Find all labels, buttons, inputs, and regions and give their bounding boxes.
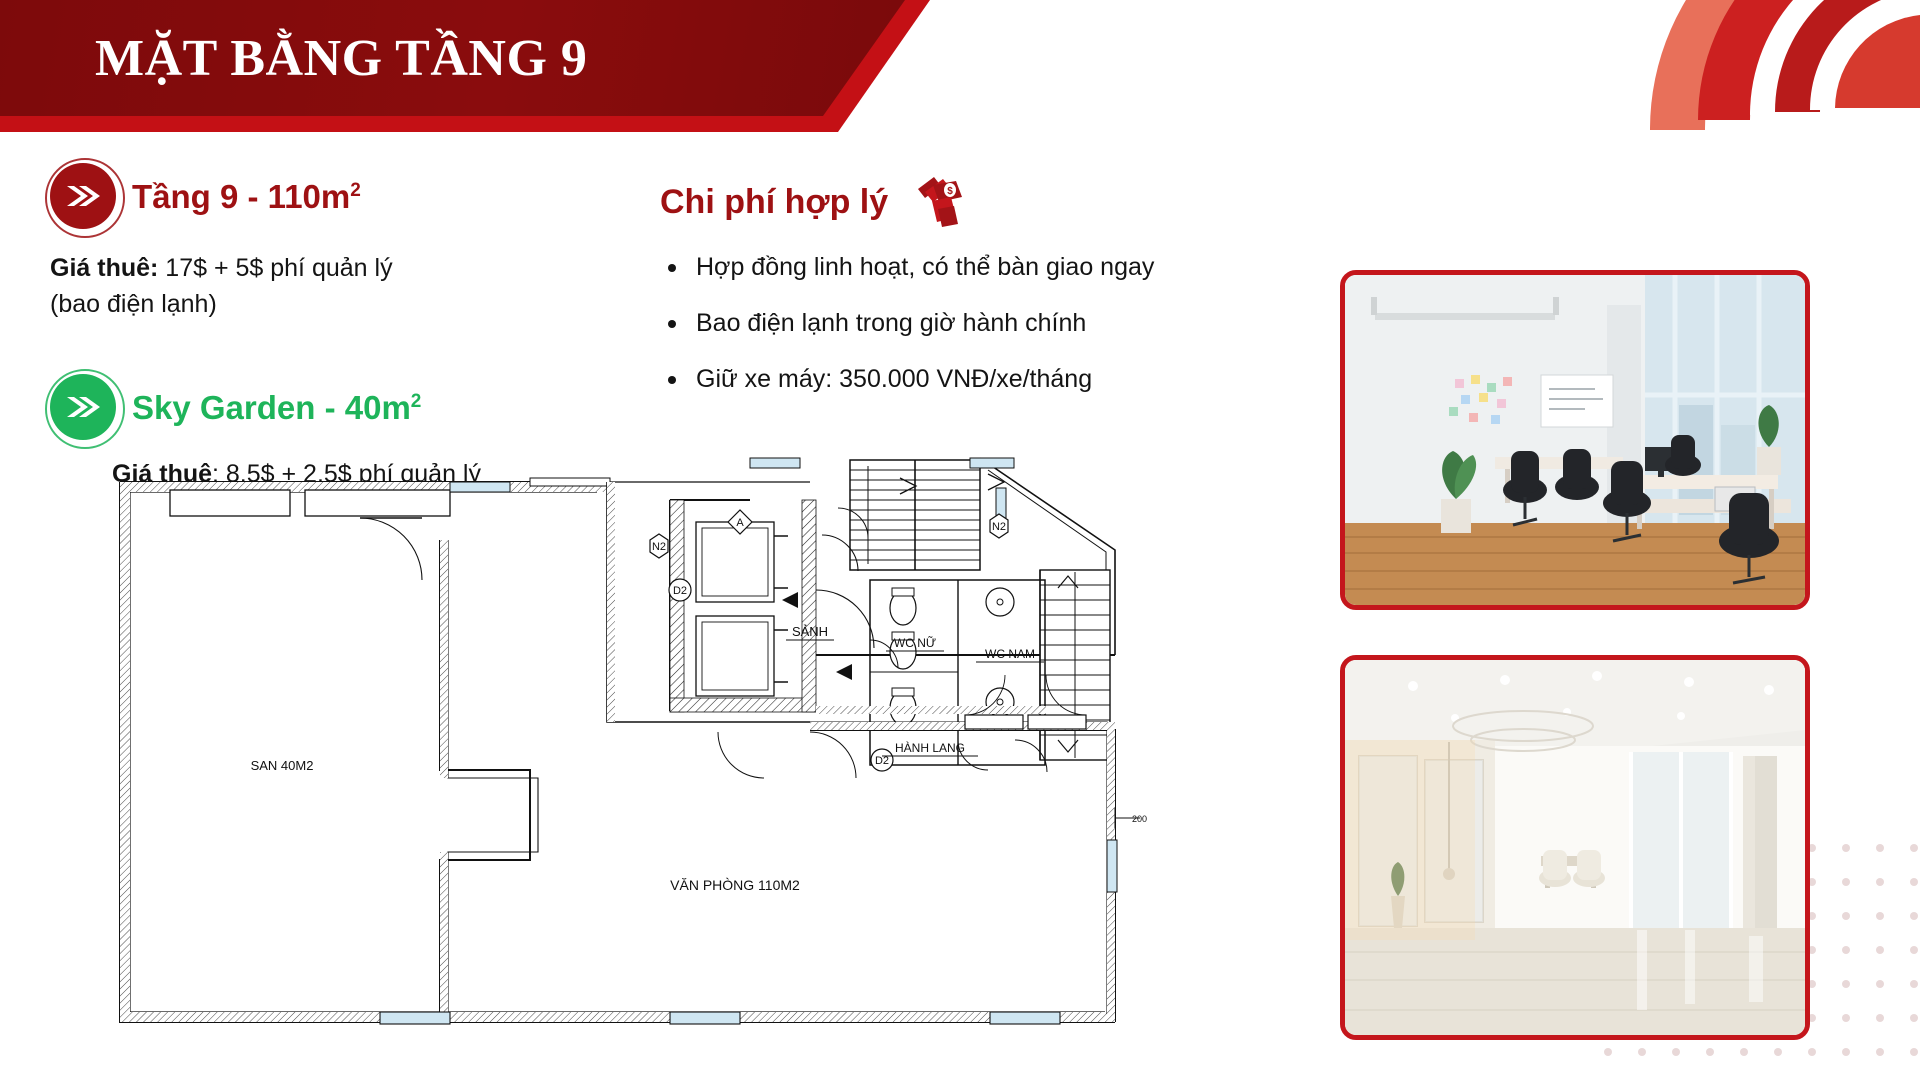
money-banknotes-icon: $ (910, 175, 968, 229)
marker-label-n2-right: N2 (992, 521, 1006, 533)
office-open-workspace-photo (1340, 270, 1810, 610)
sky-garden-title-text: Sky Garden - 40m (132, 389, 411, 426)
list-item: Giữ xe máy: 350.000 VNĐ/xe/tháng (660, 365, 1280, 393)
chevron-glyph (63, 182, 103, 210)
floor-price-value: 17$ + 5$ phí quản lý (165, 254, 392, 282)
list-item: Bao điện lạnh trong giờ hành chính (660, 309, 1280, 337)
marker-label-d2-lower: D2 (875, 755, 889, 767)
floor-price-label: Giá thuê: (50, 254, 158, 282)
slide-root: MẶT BẰNG TẦNG 9 (0, 0, 1920, 1080)
plan-label-corridor: HÀNH LANG (895, 740, 965, 755)
floor-plan-svg: N2 A D2 D2 N2 SAN 40M2 VĂN PHÒNG 110M2 S… (110, 440, 1170, 1050)
cost-section-title: Chi phí hợp lý (660, 183, 888, 222)
cost-bullet-list: Hợp đồng linh hoạt, có thể bàn giao ngay… (660, 253, 1280, 393)
plan-label-office: VĂN PHÒNG 110M2 (670, 877, 800, 893)
svg-text:$: $ (947, 186, 953, 197)
floor-heading-row: Tầng 9 - 110m2 (50, 163, 610, 229)
floor-title-sup: 2 (350, 180, 361, 201)
floor-price-line: Giá thuê: 17$ + 5$ phí quản lý (50, 251, 520, 287)
double-chevron-icon (50, 374, 116, 440)
plan-label-balcony: SAN 40M2 (251, 758, 314, 773)
cost-section-header: Chi phí hợp lý $ (660, 175, 1280, 229)
floor-title: Tầng 9 - 110m2 (132, 180, 361, 213)
header-banner: MẶT BẰNG TẦNG 9 (0, 0, 1000, 132)
double-chevron-icon (50, 163, 116, 229)
sky-heading-row: Sky Garden - 40m2 (50, 374, 610, 440)
list-item: Hợp đồng linh hoạt, có thể bàn giao ngay (660, 253, 1280, 281)
office-lobby-corridor-photo (1340, 655, 1810, 1040)
sky-garden-title: Sky Garden - 40m2 (132, 391, 421, 424)
header-main-layer: MẶT BẰNG TẦNG 9 (0, 0, 905, 116)
sky-garden-title-sup: 2 (411, 391, 422, 412)
marker-label-n2: N2 (652, 541, 666, 553)
photo-2-art (1345, 660, 1805, 1035)
right-info-column: Chi phí hợp lý $ Hợp đồng linh hoạt, có … (660, 175, 1280, 421)
plan-label-dimension: 200 (1132, 814, 1147, 824)
marker-label-a: A (736, 517, 744, 529)
plan-label-wc-female: WC NỮ (894, 635, 936, 650)
floor-plan-drawing: N2 A D2 D2 N2 SAN 40M2 VĂN PHÒNG 110M2 S… (110, 440, 1170, 1050)
marker-label-d2-upper: D2 (673, 585, 687, 597)
photo-1-art (1345, 275, 1805, 605)
plan-label-lobby: SẢNH (792, 624, 828, 639)
plan-label-wc-male: WC NAM (985, 647, 1035, 661)
floor-price-note: (bao điện lạnh) (50, 287, 610, 323)
decorative-swoosh (1450, 0, 1920, 170)
floor-title-text: Tầng 9 - 110m (132, 178, 350, 215)
chevron-glyph (63, 393, 103, 421)
page-title: MẶT BẰNG TẦNG 9 (0, 29, 587, 88)
